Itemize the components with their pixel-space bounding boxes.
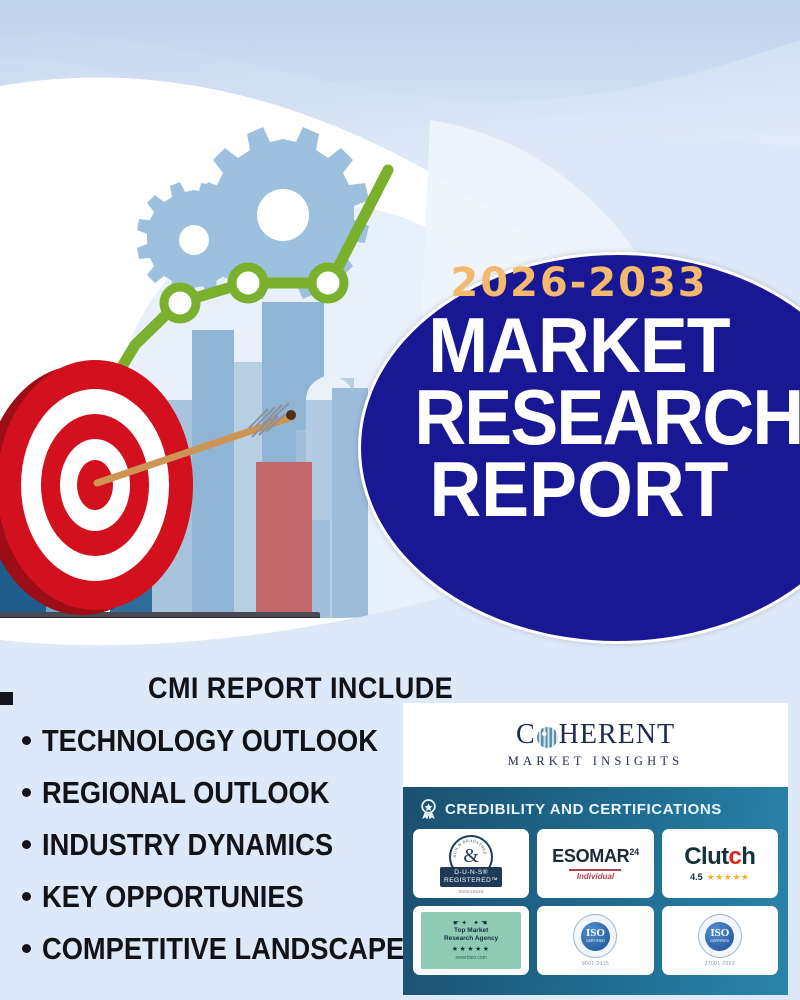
list-item-label: INDUSTRY DYNAMICS <box>42 829 333 860</box>
globe-icon <box>537 727 558 748</box>
iso-inner-label: CERTIFIED <box>710 940 729 944</box>
coherent-market-insights-logo: C HERENT MARKET INSIGHTS <box>508 721 684 769</box>
tmra-url: reverbico.com <box>455 955 486 961</box>
esomar-title: ESOMAR <box>552 846 629 866</box>
duns-number: 860519526 <box>459 889 484 894</box>
tmra-inner: ☛✦ ✦☚ Top Market Research Agency ★★★★★ r… <box>421 912 521 970</box>
clutch-badge: Clutch 4.5 ★★★★★ <box>662 829 778 898</box>
report-include-list: TECHNOLOGY OUTLOOK REGIONAL OUTLOOK INDU… <box>22 725 432 985</box>
bullet-dot-icon <box>22 892 31 901</box>
tmra-line1: Top Market <box>454 927 488 935</box>
title-block: 2026-2033 MARKET RESEARCH REPORT <box>400 262 770 525</box>
duns-plate: D-U-N-S® REGISTERED™ <box>440 867 502 887</box>
list-item: COMPETITIVE LANDSCAPE <box>22 933 432 964</box>
list-item-label: TECHNOLOGY OUTLOOK <box>42 725 378 756</box>
tmra-stars: ★★★★★ <box>452 945 491 953</box>
iso-caption: 9001:2015 <box>582 961 609 967</box>
esomar-sup: 24 <box>629 847 638 857</box>
brand-tagline: MARKET INSIGHTS <box>508 754 684 769</box>
iso-9001-badge: ISO CERTIFIED 9001:2015 <box>537 906 653 975</box>
duns-plate-line1: D-U-N-S® <box>440 869 502 877</box>
list-item-label: COMPETITIVE LANDSCAPE <box>42 933 404 964</box>
brand-logo-band: C HERENT MARKET INSIGHTS <box>403 703 788 787</box>
top-market-research-agency-badge: ☛✦ ✦☚ Top Market Research Agency ★★★★★ r… <box>413 906 529 975</box>
poster-canvas: 2026-2033 MARKET RESEARCH REPORT CMI REP… <box>0 0 800 1000</box>
tmra-line2: Research Agency <box>444 935 498 943</box>
duns-registered-badge: DUN & BRADSTREET & D-U-N-S® REGISTERED™ … <box>413 829 529 898</box>
clutch-title-b: h <box>741 843 755 870</box>
clutch-stars: ★★★★★ <box>707 872 750 883</box>
iso-seal-icon: ISO CERTIFIED <box>698 914 742 958</box>
corner-mark <box>0 692 13 705</box>
report-years: 2026-2033 <box>400 262 758 304</box>
clutch-title-o: c <box>729 843 742 870</box>
credibility-band: CREDIBILITY AND CERTIFICATIONS DUN & BRA… <box>403 787 788 995</box>
clutch-title-a: Clut <box>684 843 728 870</box>
certification-card: C HERENT MARKET INSIGHTS CREDIBILITY AND… <box>403 703 788 995</box>
esomar-subtitle: Individual <box>577 872 614 881</box>
list-item: REGIONAL OUTLOOK <box>22 777 432 808</box>
duns-plate-line2: REGISTERED™ <box>440 877 502 885</box>
iso-seal-icon: ISO CERTIFIED <box>573 914 617 958</box>
iso-27001-badge: ISO CERTIFIED 27001:2022 <box>662 906 778 975</box>
clutch-wordmark: Clutch <box>684 845 755 869</box>
esomar-wordmark: ESOMAR24 <box>552 846 639 867</box>
brand-wordmark-rest: HERENT <box>559 721 675 749</box>
esomar-rule <box>569 869 621 870</box>
iso-core: ISO CERTIFIED <box>705 922 734 951</box>
iso-inner-label: CERTIFIED <box>586 940 605 944</box>
bullet-dot-icon <box>22 944 31 953</box>
list-item: INDUSTRY DYNAMICS <box>22 829 432 860</box>
title-line-research: RESEARCH <box>414 382 743 454</box>
iso-mark: ISO <box>710 928 729 939</box>
credibility-heading: CREDIBILITY AND CERTIFICATIONS <box>445 801 722 818</box>
brand-wordmark: C HERENT <box>516 721 675 749</box>
iso-mark: ISO <box>586 928 605 939</box>
badge-grid: DUN & BRADSTREET & D-U-N-S® REGISTERED™ … <box>413 829 778 975</box>
credibility-heading-row: CREDIBILITY AND CERTIFICATIONS <box>419 799 778 820</box>
ribbon-award-icon <box>419 799 438 820</box>
clutch-rating-row: 4.5 ★★★★★ <box>690 872 749 883</box>
bullet-dot-icon <box>22 788 31 797</box>
bullet-dot-icon <box>22 840 31 849</box>
svg-text:DUN & BRADSTREET: DUN & BRADSTREET <box>450 836 488 858</box>
list-item-label: REGIONAL OUTLOOK <box>42 777 329 808</box>
iso-core: ISO CERTIFIED <box>581 922 610 951</box>
laurel-icon: ☛✦ ✦☚ <box>453 920 489 927</box>
list-item: TECHNOLOGY OUTLOOK <box>22 725 432 756</box>
esomar-badge: ESOMAR24 Individual <box>537 829 653 898</box>
title-line-report: REPORT <box>414 454 743 526</box>
duns-arc-label: DUN & BRADSTREET <box>450 836 488 858</box>
clutch-score: 4.5 <box>690 872 703 882</box>
brand-letter-c: C <box>516 721 536 749</box>
list-item: KEY OPPORTUNIES <box>22 881 432 912</box>
list-item-label: KEY OPPORTUNIES <box>42 881 304 912</box>
report-include-heading: CMI REPORT INCLUDE <box>148 672 453 706</box>
title-line-market: MARKET <box>414 310 743 382</box>
bullet-dot-icon <box>22 736 31 745</box>
iso-caption: 27001:2022 <box>705 961 735 967</box>
